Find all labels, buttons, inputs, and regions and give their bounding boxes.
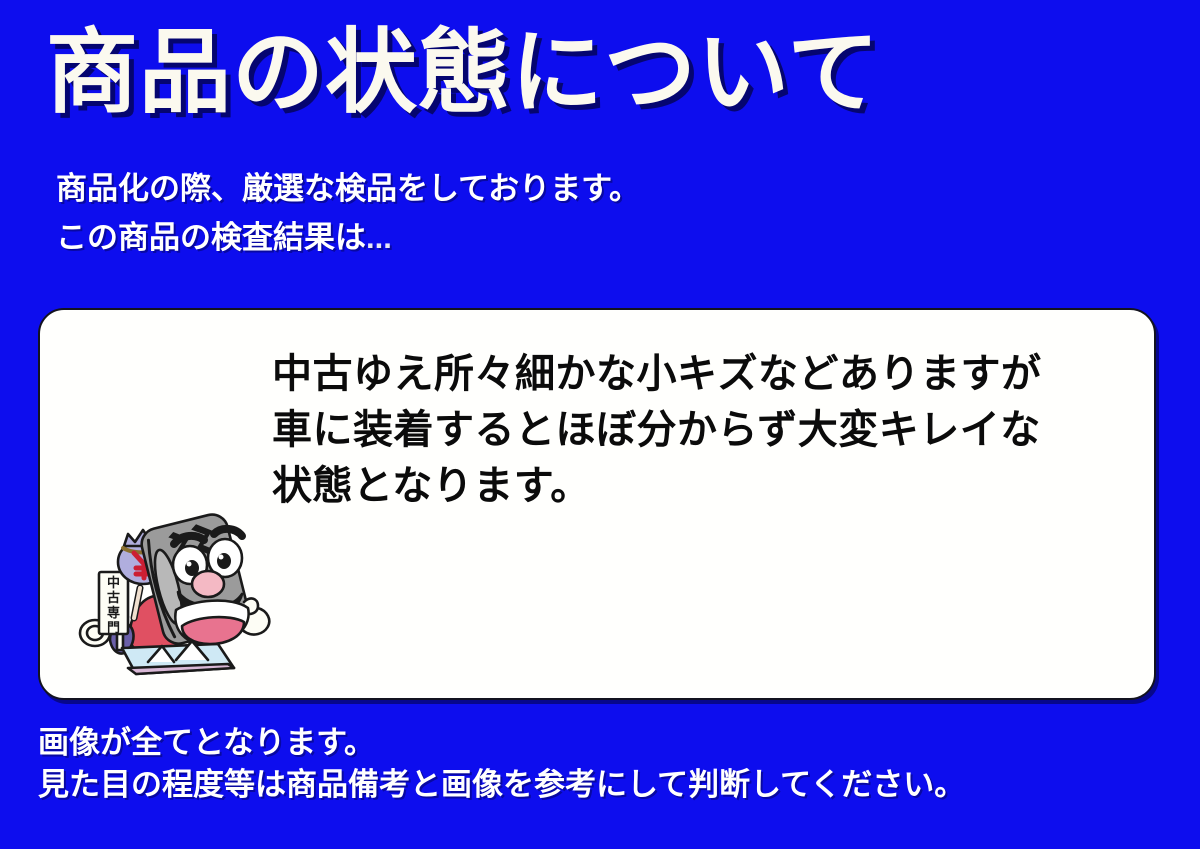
product-condition-banner: 商品の状態について 商品化の際、厳選な検品をしております。 この商品の検査結果は… bbox=[0, 0, 1200, 849]
svg-text:古: 古 bbox=[107, 590, 120, 605]
intro-line-1: 商品化の際、厳選な検品をしております。 bbox=[56, 164, 1136, 213]
condition-line-1: 中古ゆえ所々細かな小キズなどありますが bbox=[272, 346, 1112, 402]
footer-line-1: 画像が全てとなります。 bbox=[38, 722, 1178, 764]
condition-line-2: 車に装着するとほぼ分からず大変キレイな bbox=[272, 402, 1112, 458]
page-title: 商品の状態について bbox=[46, 14, 1146, 132]
intro-line-2-text: この商品の検査結果は bbox=[56, 220, 366, 255]
svg-text:専: 専 bbox=[107, 605, 120, 620]
intro-text-block: 商品化の際、厳選な検品をしております。 この商品の検査結果は... bbox=[56, 164, 1136, 262]
tire-character-mascot-icon: 中 古 専 門 bbox=[68, 492, 278, 682]
svg-text:門: 門 bbox=[107, 620, 120, 635]
condition-result-card: 中古ゆえ所々細かな小キズなどありますが 車に装着するとほぼ分からず大変キレイな … bbox=[38, 308, 1156, 700]
footer-line-2: 見た目の程度等は商品備考と画像を参考にして判断してください。 bbox=[38, 764, 1178, 806]
condition-description: 中古ゆえ所々細かな小キズなどありますが 車に装着するとほぼ分からず大変キレイな … bbox=[272, 346, 1112, 514]
condition-line-3: 状態となります。 bbox=[272, 458, 1112, 514]
intro-line-2-ellipsis: ... bbox=[366, 220, 392, 255]
svg-text:中: 中 bbox=[107, 575, 120, 590]
footer-note-block: 画像が全てとなります。 見た目の程度等は商品備考と画像を参考にして判断してくださ… bbox=[38, 722, 1178, 806]
intro-line-2: この商品の検査結果は... bbox=[56, 213, 1136, 262]
